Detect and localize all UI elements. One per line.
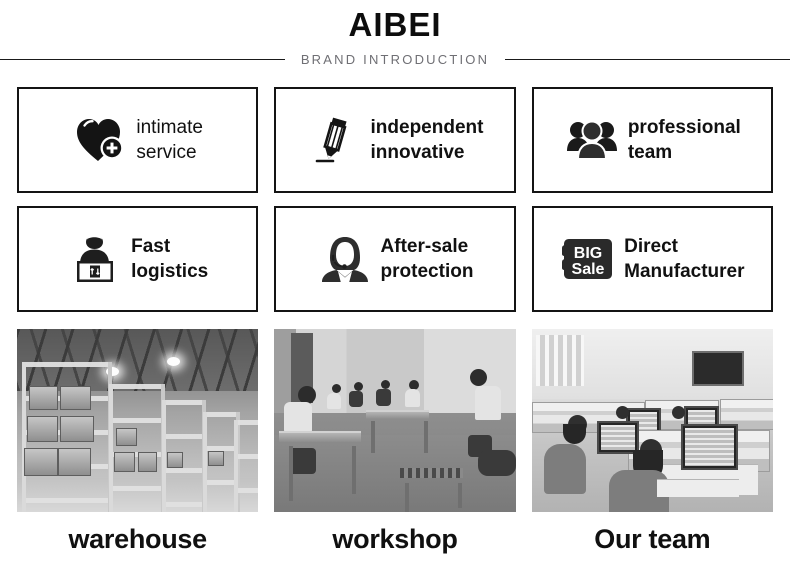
photo-cell-our-team: Our team (532, 329, 773, 559)
photo-cell-warehouse: warehouse (17, 329, 258, 559)
rule-left (0, 59, 285, 60)
photo-strip: warehouse (17, 329, 773, 559)
office-team-photo (532, 329, 773, 512)
warehouse-photo (17, 329, 258, 512)
feature-card-independent-innovative[interactable]: independent innovative (274, 87, 515, 193)
delivery-person-box-icon (67, 231, 123, 287)
feature-card-professional-team[interactable]: professional team (532, 87, 773, 193)
brand-header: AIBEI BRAND INTRODUCTION (0, 0, 790, 70)
photo-caption: Our team (532, 519, 773, 559)
page-title: AIBEI (0, 6, 790, 44)
subtitle-row: BRAND INTRODUCTION (0, 48, 790, 70)
customer-service-headset-icon (317, 231, 373, 287)
big-sale-line2: Sale (572, 261, 605, 278)
pencil-icon (307, 112, 363, 168)
feature-label: professional team (628, 115, 741, 165)
heart-plus-icon (72, 112, 128, 168)
big-sale-tag-icon: BIG Sale (560, 231, 616, 287)
feature-label: intimate service (136, 115, 203, 165)
feature-card-fast-logistics[interactable]: Fast logistics (17, 206, 258, 312)
feature-card-intimate-service[interactable]: intimate service (17, 87, 258, 193)
feature-label: Direct Manufacturer (624, 234, 744, 284)
feature-card-after-sale-protection[interactable]: After-sale protection (274, 206, 515, 312)
workshop-photo (274, 329, 515, 512)
big-sale-line1: BIG (574, 245, 602, 262)
feature-label: After-sale protection (381, 234, 474, 284)
rule-right (505, 59, 790, 60)
feature-label: independent innovative (371, 115, 484, 165)
feature-label: Fast logistics (131, 234, 208, 284)
feature-grid: intimate service independent innovative (17, 87, 773, 312)
photo-cell-workshop: workshop (274, 329, 515, 559)
people-group-icon (564, 112, 620, 168)
page-subtitle: BRAND INTRODUCTION (285, 52, 505, 67)
feature-card-direct-manufacturer[interactable]: BIG Sale Direct Manufacturer (532, 206, 773, 312)
photo-caption: workshop (274, 519, 515, 559)
photo-caption: warehouse (17, 519, 258, 559)
